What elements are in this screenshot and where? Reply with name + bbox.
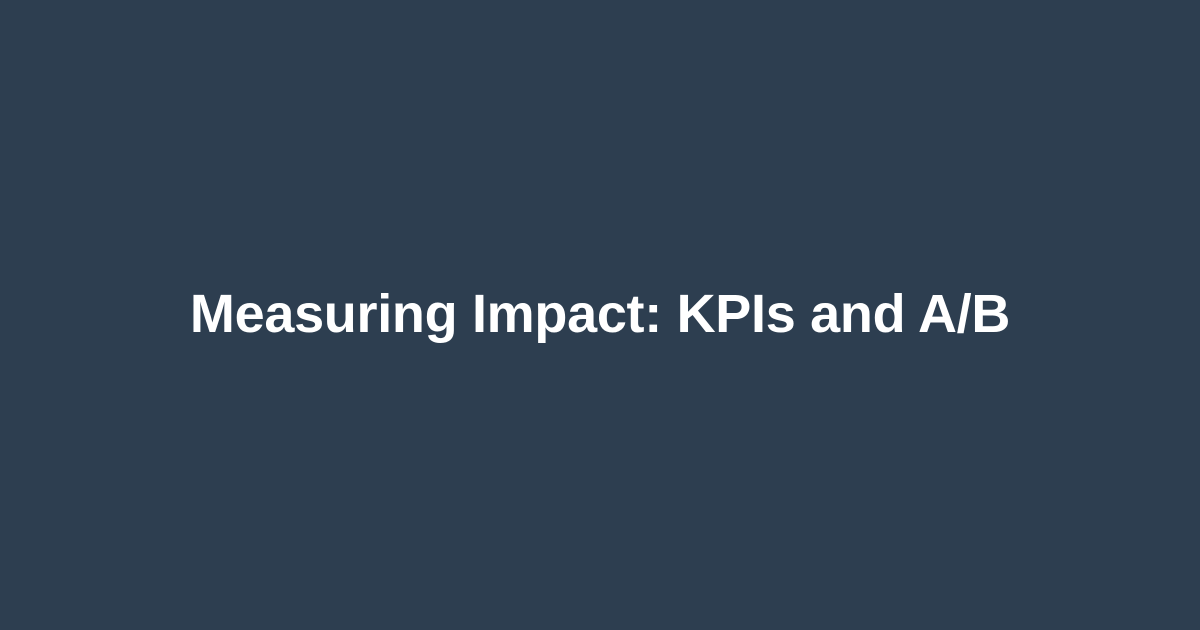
page-title: Measuring Impact: KPIs and A/B xyxy=(60,282,1140,348)
social-share-card: Measuring Impact: KPIs and A/B xyxy=(0,0,1200,630)
